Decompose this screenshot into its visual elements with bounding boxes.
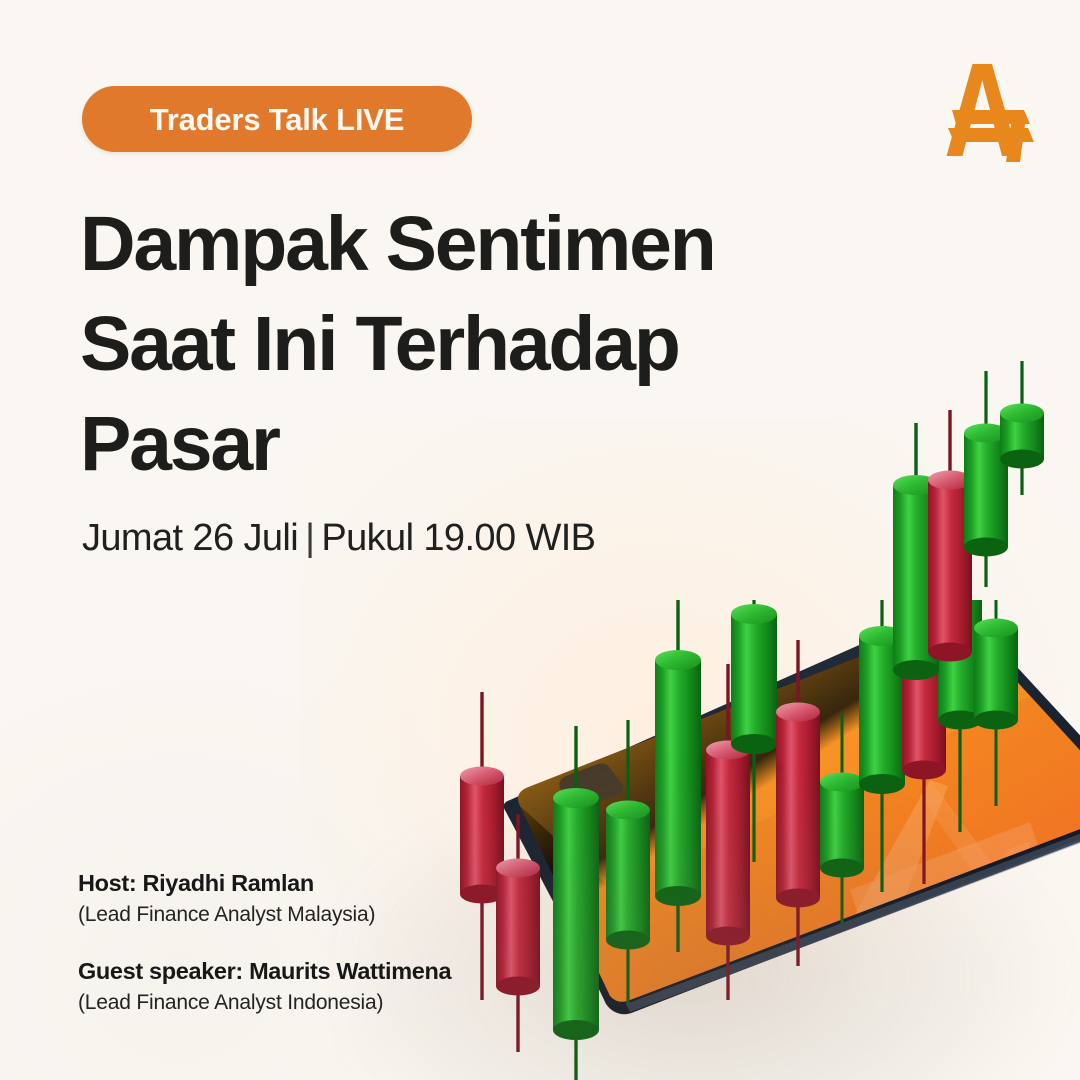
speaker-host: Host: Riyadhi Ramlan (Lead Finance Analy… (78, 868, 598, 930)
headline-line-3: Pasar (80, 394, 840, 494)
speakers-block: Host: Riyadhi Ramlan (Lead Finance Analy… (78, 868, 598, 1044)
speaker-guest-role: (Lead Finance Analyst Indonesia) (78, 988, 598, 1018)
speaker-host-role: (Lead Finance Analyst Malaysia) (78, 900, 598, 930)
promo-poster: Traders Talk LIVE Dampak Sentimen Saat I… (0, 0, 1080, 1080)
candle-bullish-5 (655, 600, 701, 952)
candle-bullish-9 (820, 714, 864, 924)
page-title: Dampak Sentimen Saat Ini Terhadap Pasar (80, 194, 840, 494)
screen-watermark-logo-icon (846, 780, 1058, 960)
upper-candlestick-series (820, 355, 1080, 685)
candle-bullish-7 (731, 600, 777, 862)
schedule-time: Pukul 19.00 WIB (321, 517, 595, 559)
headline-line-1: Dampak Sentimen (80, 194, 840, 294)
arrow-a-logo-icon (928, 58, 1036, 162)
speaker-guest: Guest speaker: Maurits Wattimena (Lead F… (78, 956, 598, 1018)
headline-line-2: Saat Ini Terhadap (80, 294, 840, 394)
live-badge-label: Traders Talk LIVE (150, 104, 404, 135)
candle-bullish-4 (606, 720, 650, 1004)
speaker-guest-name: Guest speaker: Maurits Wattimena (78, 956, 598, 988)
schedule-line: Jumat 26 Juli|Pukul 19.00 WIB (82, 515, 595, 563)
schedule-separator: | (298, 517, 321, 559)
screen-texture (890, 845, 1080, 986)
schedule-date: Jumat 26 Juli (82, 517, 298, 559)
candle-bearish-8 (776, 640, 820, 966)
speaker-host-name: Host: Riyadhi Ramlan (78, 868, 598, 900)
live-badge[interactable]: Traders Talk LIVE (82, 86, 472, 152)
candle-bearish-6 (706, 664, 750, 1000)
